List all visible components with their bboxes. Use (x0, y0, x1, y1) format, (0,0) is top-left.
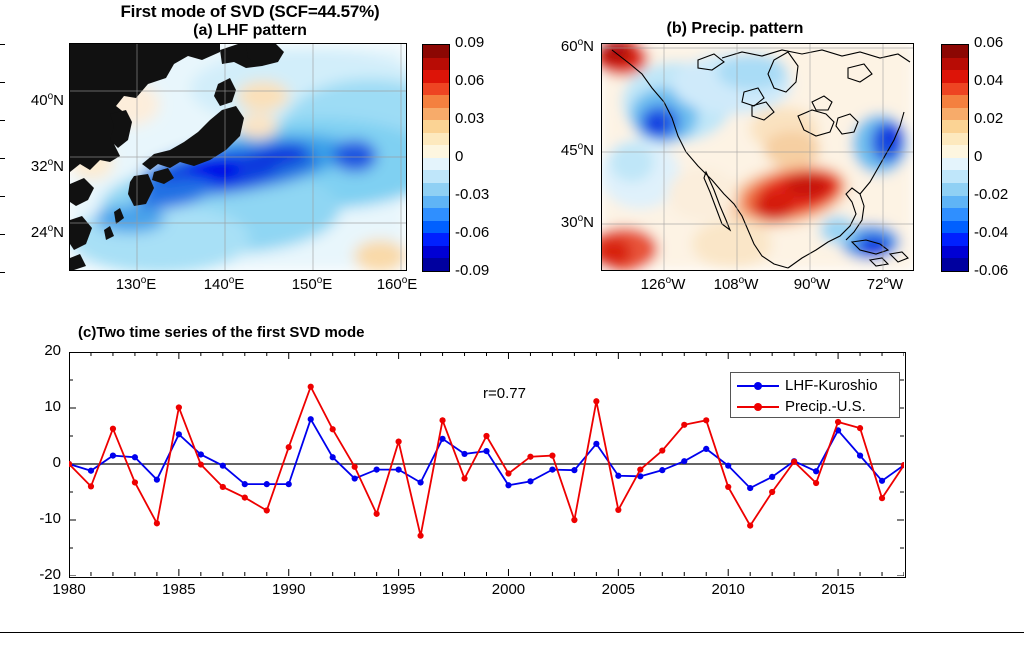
data-point (110, 426, 116, 432)
data-point (176, 431, 182, 437)
panel-a-lat-tick-32n: 32oN (8, 157, 64, 175)
colorbar-segment (423, 120, 449, 133)
colorbar-tick (0, 44, 5, 45)
data-point (461, 475, 467, 481)
colorbar-tick (0, 158, 5, 159)
legend-label-precip: Precip.-U.S. (785, 398, 866, 415)
precip-pattern-field (602, 44, 913, 270)
data-point (242, 481, 248, 487)
panel-b-lon-tick-108w: 108oW (696, 275, 776, 293)
data-point (242, 495, 248, 501)
lhf-pattern-field (70, 44, 406, 270)
colorbar-tick-label: 0.06 (974, 34, 1003, 51)
data-point (264, 481, 270, 487)
data-point (461, 451, 467, 457)
colorbar-tick-label: -0.02 (974, 186, 1008, 203)
panel-a-lat-tick-24n: 24oN (8, 223, 64, 241)
colorbar-tick-label: -0.03 (455, 186, 489, 203)
data-point (308, 416, 314, 422)
panel-c-x-tick-label: 1985 (144, 581, 214, 598)
panel-b-lat-tick-45n: 45oN (534, 141, 594, 159)
data-point (571, 517, 577, 523)
colorbar-segment (423, 58, 449, 71)
data-point (549, 453, 555, 459)
panel-b-colorbar (941, 44, 969, 272)
panel-a-title: (a) LHF pattern (0, 22, 500, 40)
panel-c-x-tick-label: 2010 (693, 581, 763, 598)
legend-item-precip: Precip.-U.S. (735, 396, 895, 417)
data-point (374, 467, 380, 473)
data-point (483, 448, 489, 454)
data-point (439, 417, 445, 423)
panel-b-lon-tick-126w: 126oW (623, 275, 703, 293)
colorbar-segment (423, 258, 449, 271)
colorbar-segment (423, 246, 449, 259)
data-point (88, 468, 94, 474)
colorbar-segment (423, 183, 449, 196)
colorbar-segment (942, 45, 968, 58)
colorbar-segment (942, 258, 968, 271)
colorbar-segment (423, 158, 449, 171)
panel-c-title: (c)Two time series of the first SVD mode (78, 324, 508, 341)
data-point (505, 482, 511, 488)
data-point (417, 533, 423, 539)
data-point (374, 511, 380, 517)
panel-c-x-tick-label: 1995 (364, 581, 434, 598)
data-point (286, 481, 292, 487)
data-point (264, 507, 270, 513)
correlation-annotation: r=0.77 (483, 385, 526, 402)
data-point (813, 468, 819, 474)
colorbar-segment (942, 108, 968, 121)
data-point (352, 464, 358, 470)
legend-label-lhf: LHF-Kuroshio (785, 377, 878, 394)
data-point (132, 479, 138, 485)
data-point (747, 523, 753, 529)
colorbar-segment (942, 133, 968, 146)
colorbar-segment (942, 221, 968, 234)
data-point (593, 441, 599, 447)
colorbar-tick (0, 196, 5, 197)
data-point (879, 495, 885, 501)
colorbar-tick-label: 0 (974, 148, 982, 165)
colorbar-tick (0, 120, 5, 121)
data-point (527, 454, 533, 460)
data-point (483, 433, 489, 439)
legend-swatch-lhf (737, 385, 779, 387)
panel-a-lon-tick-160e: 160oE (357, 275, 437, 293)
figure-canvas: First mode of SVD (SCF=44.57%) (a) LHF p… (0, 0, 1024, 649)
colorbar-segment (942, 246, 968, 259)
colorbar-segment (423, 133, 449, 146)
colorbar-segment (942, 83, 968, 96)
colorbar-tick-label: -0.04 (974, 224, 1008, 241)
colorbar-segment (942, 233, 968, 246)
data-point (505, 470, 511, 476)
panel-b-title: (b) Precip. pattern (540, 20, 930, 38)
data-point (396, 439, 402, 445)
colorbar-segment (423, 83, 449, 96)
colorbar-segment (423, 45, 449, 58)
colorbar-tick (0, 272, 5, 273)
data-point (703, 446, 709, 452)
data-point (769, 489, 775, 495)
data-point (813, 480, 819, 486)
data-point (132, 454, 138, 460)
panel-b-lon-tick-90w: 90oW (772, 275, 852, 293)
data-point (681, 458, 687, 464)
colorbar-tick-label: -0.06 (974, 262, 1008, 279)
panel-b-map (601, 43, 914, 271)
colorbar-segment (423, 221, 449, 234)
data-point (725, 463, 731, 469)
colorbar-tick-label: 0.04 (974, 72, 1003, 89)
data-point (637, 467, 643, 473)
colorbar-tick-label: -0.06 (455, 224, 489, 241)
legend-swatch-precip (737, 406, 779, 408)
colorbar-segment (942, 158, 968, 171)
panel-c-x-tick-label: 1980 (34, 581, 104, 598)
colorbar-segment (423, 196, 449, 209)
data-point (286, 444, 292, 450)
panel-b-lat-tick-60n: 60oN (534, 37, 594, 55)
data-point (439, 436, 445, 442)
data-point (527, 478, 533, 484)
data-point (659, 447, 665, 453)
colorbar-segment (942, 70, 968, 83)
colorbar-tick (0, 82, 5, 83)
data-point (747, 485, 753, 491)
panel-c-x-tick-label: 2015 (803, 581, 873, 598)
data-point (198, 461, 204, 467)
data-point (220, 484, 226, 490)
panel-c-x-tick-label: 1990 (254, 581, 324, 598)
data-point (615, 507, 621, 513)
bottom-divider (0, 632, 1024, 633)
colorbar-segment (423, 108, 449, 121)
data-point (703, 417, 709, 423)
panel-c-x-tick-label: 2005 (583, 581, 653, 598)
data-point (593, 398, 599, 404)
data-point (330, 426, 336, 432)
data-point (879, 478, 885, 484)
data-point (549, 467, 555, 473)
data-point (571, 467, 577, 473)
colorbar-segment (942, 170, 968, 183)
colorbar-segment (423, 233, 449, 246)
panel-a-colorbar (422, 44, 450, 272)
data-point (308, 384, 314, 390)
colorbar-tick-label: 0 (455, 148, 463, 165)
colorbar-tick-label: 0.06 (455, 72, 484, 89)
colorbar-segment (423, 170, 449, 183)
data-point (396, 467, 402, 473)
data-point (681, 422, 687, 428)
panel-c-y-tick-label: -10 (11, 510, 61, 527)
panel-c-x-tick-label: 2000 (473, 581, 543, 598)
colorbar-segment (942, 95, 968, 108)
panel-a-map (69, 43, 407, 271)
data-point (659, 467, 665, 473)
colorbar-segment (942, 58, 968, 71)
colorbar-tick-label: -0.09 (455, 262, 489, 279)
data-point (154, 520, 160, 526)
data-point (769, 474, 775, 480)
colorbar-segment (423, 145, 449, 158)
colorbar-segment (423, 208, 449, 221)
data-point (220, 463, 226, 469)
colorbar-tick-label: 0.09 (455, 34, 484, 51)
data-point (835, 419, 841, 425)
colorbar-tick-label: 0.02 (974, 110, 1003, 127)
colorbar-segment (942, 145, 968, 158)
panel-a-lon-tick-130e: 130oE (96, 275, 176, 293)
panel-a-lat-tick-40n: 40oN (8, 91, 64, 109)
colorbar-tick-label: 0.03 (455, 110, 484, 127)
panel-a-lon-tick-150e: 150oE (272, 275, 352, 293)
colorbar-segment (942, 120, 968, 133)
colorbar-segment (942, 183, 968, 196)
data-point (88, 483, 94, 489)
panel-c-y-tick-label: 0 (11, 454, 61, 471)
data-point (791, 459, 797, 465)
colorbar-tick (0, 234, 5, 235)
data-point (330, 454, 336, 460)
panel-c-legend: LHF-Kuroshio Precip.-U.S. (730, 372, 900, 418)
data-point (857, 453, 863, 459)
data-point (417, 479, 423, 485)
data-point (110, 453, 116, 459)
data-point (352, 475, 358, 481)
colorbar-segment (942, 208, 968, 221)
data-point (725, 484, 731, 490)
data-point (154, 477, 160, 483)
data-point (176, 404, 182, 410)
panel-c-y-tick-label: 10 (11, 398, 61, 415)
data-point (857, 425, 863, 431)
colorbar-segment (942, 196, 968, 209)
panel-b-lat-tick-30n: 30oN (534, 213, 594, 231)
panel-a-lon-tick-140e: 140oE (184, 275, 264, 293)
legend-item-lhf: LHF-Kuroshio (735, 375, 895, 396)
panel-b-lon-tick-72w: 72oW (845, 275, 925, 293)
data-point (615, 473, 621, 479)
colorbar-segment (423, 95, 449, 108)
colorbar-segment (423, 70, 449, 83)
panel-c-y-tick-label: 20 (11, 342, 61, 359)
figure-suptitle: First mode of SVD (SCF=44.57%) (0, 2, 500, 22)
